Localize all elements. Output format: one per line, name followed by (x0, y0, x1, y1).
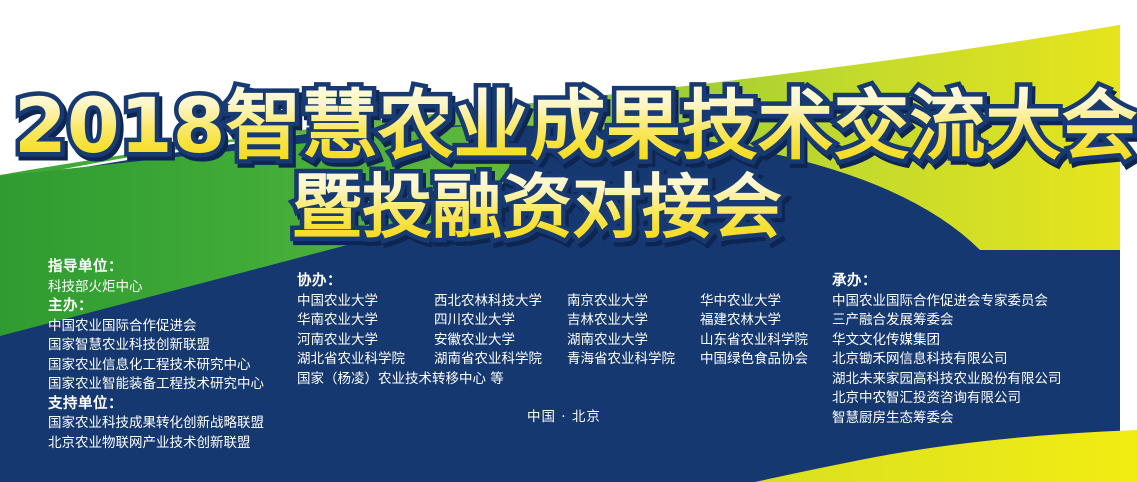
co-organizer-item: 中国农业大学 (297, 292, 434, 312)
co-organizer-item: 山东省农业科学院 (700, 331, 808, 351)
co-organizer-last-line: 国家（杨凌）农业技术转移中心 等 (297, 370, 808, 390)
city-label: 中国 · 北京 (527, 405, 601, 425)
support-heading: 支持单位： (48, 395, 264, 415)
co-organizer-item: 福建农林大学 (700, 311, 781, 331)
undertaker-item: 中国农业国际合作促进会专家委员会 (832, 292, 1062, 312)
co-organizers-column: 协办： 中国农业大学 西北农林科技大学 南京农业大学 华中农业大学 华南农业大学… (297, 272, 808, 389)
co-organizer-item: 华中农业大学 (700, 292, 781, 312)
organizers-left-column: 指导单位： 科技部火炬中心 主办： 中国农业国际合作促进会 国家智慧农业科技创新… (48, 258, 264, 453)
co-organizer-item: 华南农业大学 (297, 311, 434, 331)
undertaker-item: 湖北未来家园高科技农业股份有限公司 (832, 370, 1062, 390)
host-heading: 主办： (48, 297, 264, 317)
undertaker-item: 三产融合发展筹委会 (832, 311, 1062, 331)
co-organizer-heading: 协办： (297, 272, 808, 292)
co-organizer-item: 南京农业大学 (567, 292, 700, 312)
undertaker-item: 北京锄禾网信息科技有限公司 (832, 350, 1062, 370)
co-organizer-item: 吉林农业大学 (567, 311, 700, 331)
co-organizer-row: 河南农业大学 安徽农业大学 湖南农业大学 山东省农业科学院 (297, 331, 808, 351)
co-organizer-item: 西北农林科技大学 (434, 292, 567, 312)
co-organizer-item: 中国绿色食品协会 (700, 350, 808, 370)
undertaker-item: 北京中农智汇投资咨询有限公司 (832, 389, 1062, 409)
undertaker-heading: 承办： (832, 272, 1062, 292)
co-organizer-item: 湖南省农业科学院 (434, 350, 567, 370)
co-organizer-row: 湖北省农业科学院 湖南省农业科学院 青海省农业科学院 中国绿色食品协会 (297, 350, 808, 370)
co-organizer-row: 华南农业大学 四川农业大学 吉林农业大学 福建农林大学 (297, 311, 808, 331)
co-organizer-item: 四川农业大学 (434, 311, 567, 331)
undertaker-item: 华文文化传媒集团 (832, 331, 1062, 351)
co-organizer-item: 河南农业大学 (297, 331, 434, 351)
support-item: 国家农业科技成果转化创新战略联盟 (48, 414, 264, 434)
host-item: 中国农业国际合作促进会 (48, 317, 264, 337)
co-organizer-row: 中国农业大学 西北农林科技大学 南京农业大学 华中农业大学 (297, 292, 808, 312)
undertakers-column: 承办： 中国农业国际合作促进会专家委员会 三产融合发展筹委会 华文文化传媒集团 … (832, 272, 1062, 428)
host-item: 国家农业智能装备工程技术研究中心 (48, 375, 264, 395)
support-item: 北京农业物联网产业技术创新联盟 (48, 434, 264, 454)
co-organizer-item: 湖北省农业科学院 (297, 350, 434, 370)
undertaker-item: 智慧厨房生态筹委会 (832, 409, 1062, 429)
co-organizer-item: 湖南农业大学 (567, 331, 700, 351)
co-organizer-item: 安徽农业大学 (434, 331, 567, 351)
co-organizer-item: 青海省农业科学院 (567, 350, 700, 370)
guide-item: 科技部火炬中心 (48, 278, 264, 298)
right-white-strip (1120, 0, 1137, 482)
guide-heading: 指导单位： (48, 258, 264, 278)
event-banner: 2018智慧农业成果技术交流大会 2018智慧农业成果技术交流大会 2018智慧… (0, 0, 1137, 482)
host-item: 国家智慧农业科技创新联盟 (48, 336, 264, 356)
host-item: 国家农业信息化工程技术研究中心 (48, 356, 264, 376)
